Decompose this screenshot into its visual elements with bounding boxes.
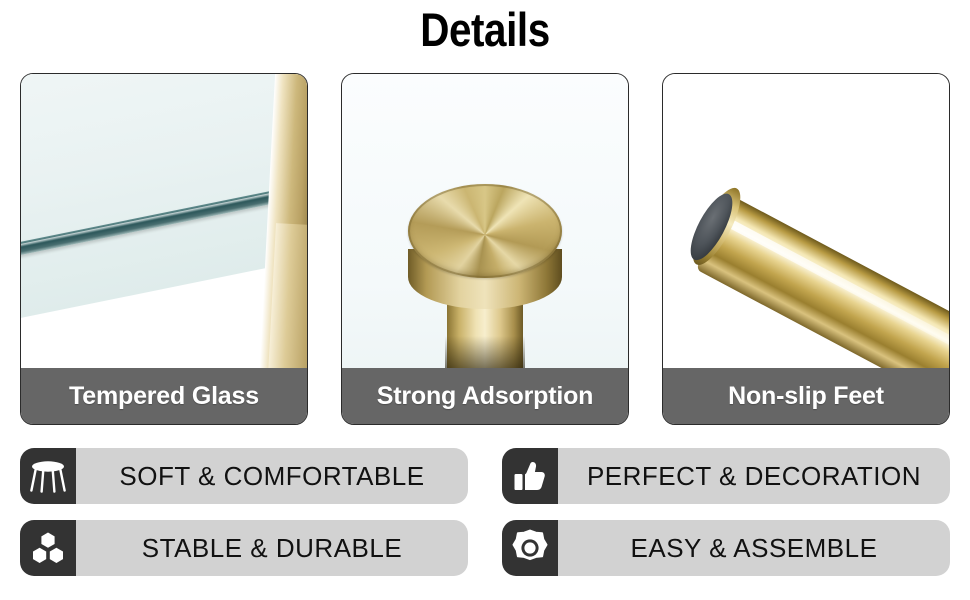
- detail-cards-row: Tempered Glass Strong Adsorption Non-sli…: [20, 73, 950, 425]
- feature-badge-pill: EASY & ASSEMBLE: [558, 520, 950, 576]
- feature-badge-pill: SOFT & COMFORTABLE: [76, 448, 468, 504]
- hexagons-icon: [20, 520, 76, 576]
- glass-scene: [21, 74, 307, 370]
- feature-badge-perfect-decoration[interactable]: PERFECT & DECORATION: [502, 448, 950, 504]
- detail-card-strong-adsorption[interactable]: Strong Adsorption: [341, 73, 629, 425]
- thumbs-up-icon: [502, 448, 558, 504]
- brass-cap-rim-shape: [408, 184, 562, 278]
- tempered-glass-edge-photo: [21, 74, 307, 370]
- feature-badge-label: SOFT & COMFORTABLE: [119, 461, 424, 492]
- detail-card-label: Tempered Glass: [21, 368, 307, 424]
- detail-card-label: Non-slip Feet: [663, 368, 949, 424]
- detail-card-tempered-glass[interactable]: Tempered Glass: [20, 73, 308, 425]
- feature-badges-grid: SOFT & COMFORTABLE PERFECT & DECORATION …: [20, 448, 950, 588]
- gear-icon: [502, 520, 558, 576]
- feature-badge-pill: PERFECT & DECORATION: [558, 448, 950, 504]
- page-title: Details: [68, 2, 902, 58]
- feature-badge-pill: STABLE & DURABLE: [76, 520, 468, 576]
- brass-post-shadow: [445, 336, 525, 370]
- detail-card-non-slip-feet[interactable]: Non-slip Feet: [662, 73, 950, 425]
- non-slip-foot-photo: [663, 74, 949, 370]
- feature-badge-label: STABLE & DURABLE: [142, 533, 402, 564]
- table-icon: [20, 448, 76, 504]
- feature-badge-soft-comfortable[interactable]: SOFT & COMFORTABLE: [20, 448, 468, 504]
- non-slip-scene: [663, 74, 949, 370]
- adsorption-scene: [342, 74, 628, 370]
- feature-badge-label: EASY & ASSEMBLE: [631, 533, 878, 564]
- feature-badge-easy-assemble[interactable]: EASY & ASSEMBLE: [502, 520, 950, 576]
- feature-badge-label: PERFECT & DECORATION: [587, 461, 921, 492]
- feature-badge-stable-durable[interactable]: STABLE & DURABLE: [20, 520, 468, 576]
- detail-card-label: Strong Adsorption: [342, 368, 628, 424]
- brass-suction-cap-photo: [342, 74, 628, 370]
